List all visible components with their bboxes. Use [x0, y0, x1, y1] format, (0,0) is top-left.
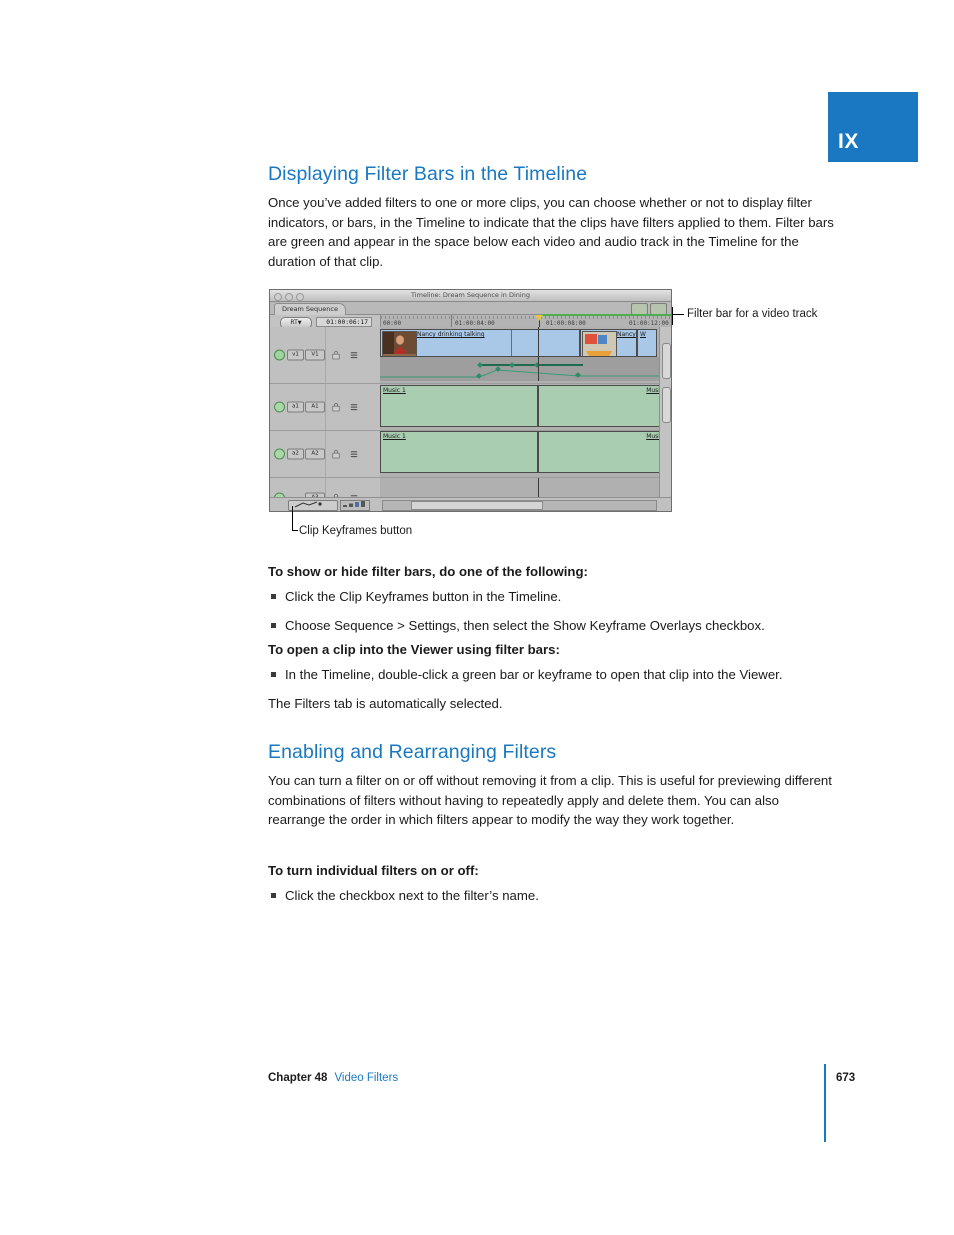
clip-w-3[interactable]: W: [637, 329, 657, 357]
footer-link[interactable]: Video Filters: [334, 1072, 398, 1084]
ruler-label-3: 01:00:12:00: [629, 320, 669, 327]
step-item: Click the Clip Keyframes button in the T…: [268, 587, 838, 607]
playhead-line: [538, 327, 539, 381]
section-1: Displaying Filter Bars in the Timeline O…: [268, 163, 838, 271]
source-target-a2[interactable]: a2: [287, 449, 304, 460]
ruler-ticks: [381, 316, 671, 319]
track-visibility-icon[interactable]: [274, 350, 285, 361]
chapter-tab: IX: [828, 92, 918, 162]
clip-music-1-a2-right[interactable]: Music 1: [538, 431, 672, 473]
procedure-1-heading: To show or hide filter bars, do one of t…: [268, 562, 838, 581]
track-header-a2: a2 A2: [270, 431, 381, 477]
procedure-2-note: The Filters tab is automatically selecte…: [268, 694, 838, 714]
ruler-label-0: 00:00: [383, 320, 401, 327]
callout-leader-top-v: [672, 307, 673, 325]
section-2: Enabling and Rearranging Filters You can…: [268, 741, 838, 830]
render-status-bar: [541, 314, 671, 316]
page-footer: Chapter 48Video Filters: [268, 1072, 848, 1084]
section-1-heading: Displaying Filter Bars in the Timeline: [268, 163, 838, 185]
procedure-3: To turn individual filters on or off: Cl…: [268, 861, 838, 915]
clip-name-video-3: W: [640, 331, 646, 338]
auto-select-icon[interactable]: [350, 351, 358, 360]
section-2-paragraph: You can turn a filter on or off without …: [268, 771, 838, 830]
callout-leader-top-h: [672, 314, 684, 315]
ruler-label-2: 01:00:08:00: [546, 320, 586, 327]
chevron-down-icon: ▼: [298, 320, 302, 326]
window-title: Timeline: Dream Sequence in Dining: [270, 291, 671, 299]
track-clips-v1: Nancy drinking talking Nancy: [380, 327, 671, 383]
track-header-v1: v1 V1: [270, 327, 381, 383]
clip-name-video-1: Nancy drinking talking: [417, 331, 485, 338]
clip-name-a2-left: Music 1: [383, 433, 406, 440]
horizontal-scrollbar[interactable]: [382, 500, 657, 511]
clip-keyframes-button[interactable]: [288, 500, 338, 511]
page-number: 673: [836, 1072, 855, 1084]
lock-icon[interactable]: [332, 450, 340, 459]
auto-select-icon[interactable]: [350, 403, 358, 412]
clip-thumbnail-2: [582, 331, 617, 357]
clip-thumbnail: [382, 331, 417, 357]
step-item: Click the checkbox next to the filter’s …: [268, 886, 838, 906]
callout-leader-bottom-h: [292, 530, 298, 531]
step-item: In the Timeline, double-click a green ba…: [268, 665, 838, 685]
step-item: Choose Sequence > Settings, then select …: [268, 616, 838, 636]
procedure-1: To show or hide filter bars, do one of t…: [268, 562, 838, 644]
procedure-1-steps: Click the Clip Keyframes button in the T…: [268, 587, 838, 635]
rt-label: RT: [290, 319, 297, 326]
source-target-a1[interactable]: a1: [287, 402, 304, 413]
scroll-thumb-upper[interactable]: [662, 343, 671, 379]
clip-music-1-a1-right[interactable]: Music 1: [538, 385, 672, 427]
vertical-scrollbar[interactable]: [659, 327, 671, 498]
section-1-paragraph: Once you’ve added filters to one or more…: [268, 193, 838, 271]
lock-icon[interactable]: [332, 403, 340, 412]
track-height-control[interactable]: [340, 500, 370, 511]
clip-name-a1-left: Music 1: [383, 387, 406, 394]
ruler-label-1: 01:00:04:00: [455, 320, 495, 327]
lock-icon[interactable]: [332, 351, 340, 360]
dest-target-a2[interactable]: A2: [305, 449, 325, 460]
procedure-2-heading: To open a clip into the Viewer using fil…: [268, 640, 838, 659]
footer-chapter: Chapter 48: [268, 1072, 327, 1084]
track-area: v1 V1: [270, 327, 671, 498]
scroll-thumb-lower[interactable]: [662, 387, 671, 423]
track-row-a2: a2 A2 Music 1: [270, 431, 671, 478]
keyframe-overlay-area-v1[interactable]: [380, 357, 671, 381]
section-2-heading: Enabling and Rearranging Filters: [268, 741, 838, 763]
dest-target-v1[interactable]: V1: [305, 350, 325, 361]
procedure-2-steps: In the Timeline, double-click a green ba…: [268, 665, 838, 685]
track-header-a1: a1 A1: [270, 384, 381, 430]
window-title-bar: Timeline: Dream Sequence in Dining: [270, 290, 671, 302]
source-target-v1[interactable]: v1: [287, 350, 304, 361]
clip-music-1-a1-left[interactable]: Music 1: [380, 385, 538, 427]
procedure-3-steps: Click the checkbox next to the filter’s …: [268, 886, 838, 906]
track-audible-icon[interactable]: [274, 449, 285, 460]
footer-rule: [824, 1064, 826, 1142]
clip-music-1-a2-left[interactable]: Music 1: [380, 431, 538, 473]
callout-leader-bottom-v: [292, 506, 293, 531]
chapter-tab-label: IX: [838, 130, 859, 154]
clip-nancy-2[interactable]: Nancy: [580, 329, 637, 357]
procedure-2: To open a clip into the Viewer using fil…: [268, 640, 838, 713]
keyframe-curve: [380, 357, 671, 381]
track-clips-a2: Music 1 Music 1: [380, 431, 671, 477]
track-row-v1: v1 V1: [270, 327, 671, 384]
auto-select-icon[interactable]: [350, 450, 358, 459]
callout-clip-keyframes: Clip Keyframes button: [299, 525, 412, 537]
procedure-3-heading: To turn individual filters on or off:: [268, 861, 838, 880]
current-timecode-field[interactable]: 01:00:06:17: [316, 317, 372, 327]
clip-nancy-drinking-talking[interactable]: Nancy drinking talking: [380, 329, 580, 357]
playhead-knob-icon[interactable]: [535, 315, 543, 321]
h-scroll-thumb[interactable]: [411, 501, 543, 510]
clip-name-video-2: Nancy: [617, 331, 636, 338]
document-page: IX Displaying Filter Bars in the Timelin…: [0, 0, 954, 1235]
callout-filter-bar: Filter bar for a video track: [687, 308, 817, 320]
dest-target-a1[interactable]: A1: [305, 402, 325, 413]
timeline-window-screenshot: Timeline: Dream Sequence in Dining Dream…: [269, 289, 672, 512]
tab-dream-sequence[interactable]: Dream Sequence: [274, 303, 346, 315]
track-clips-a1: Music 1 Music 1: [380, 384, 671, 430]
track-row-a1: a1 A1 Music 1: [270, 384, 671, 431]
timeline-bottom-bar: [270, 497, 671, 511]
track-audible-icon[interactable]: [274, 402, 285, 413]
